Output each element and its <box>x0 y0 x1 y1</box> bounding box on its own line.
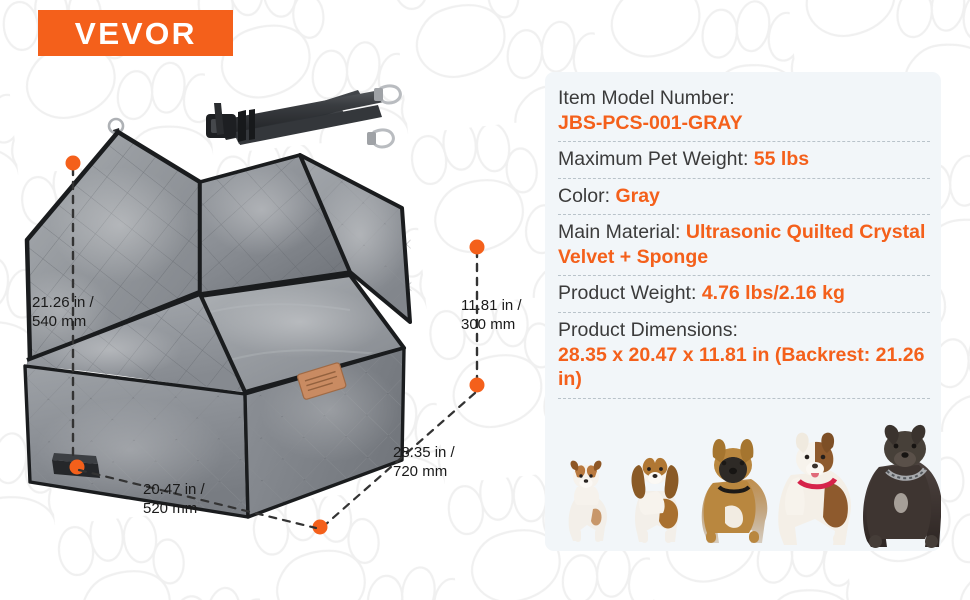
spec-value-product-dimensions: 28.35 x 20.47 x 11.81 in (Backrest: 21.2… <box>558 343 930 392</box>
dog-size-comparison <box>553 421 941 549</box>
spec-value-color: Gray <box>615 185 659 207</box>
vevor-logo: VEVOR <box>38 10 233 56</box>
vevor-logo-text: VEVOR <box>75 18 197 49</box>
dimension-label-backrest-height: 21.26 in / 540 mm <box>32 293 94 331</box>
spec-row-item-model-number: Item Model Number: JBS-PCS-001-GRAY <box>558 84 930 142</box>
spec-label-item-model-number: Item Model Number: <box>558 87 735 109</box>
spec-row-color: Color: Gray <box>558 179 930 216</box>
dim-depth-mm: 300 mm <box>461 316 515 333</box>
dim-dot-depth-top <box>470 240 485 255</box>
dim-width-inches: 20.47 in / <box>143 481 205 498</box>
dim-dot-height-top <box>66 156 81 171</box>
spec-value-item-model-number: JBS-PCS-001-GRAY <box>558 111 930 136</box>
spec-label-product-dimensions: Product Dimensions: <box>558 319 738 341</box>
strap-clip-top <box>374 86 400 103</box>
spec-row-product-dimensions: Product Dimensions: 28.35 x 20.47 x 11.8… <box>558 313 930 399</box>
spec-label-maximum-pet-weight: Maximum Pet Weight: <box>558 148 748 170</box>
dim-width-mm: 520 mm <box>143 500 197 517</box>
spec-row-product-weight: Product Weight: 4.76 lbs/2.16 kg <box>558 276 930 313</box>
dim-height-inches: 21.26 in / <box>32 294 94 311</box>
spec-label-color: Color: <box>558 185 610 207</box>
spec-row-main-material: Main Material: Ultrasonic Quilted Crysta… <box>558 215 930 276</box>
spec-label-main-material: Main Material: <box>558 221 680 243</box>
dim-dot-height-bottom <box>70 460 85 475</box>
spec-row-maximum-pet-weight: Maximum Pet Weight: 55 lbs <box>558 142 930 179</box>
specification-list: Item Model Number: JBS-PCS-001-GRAY Maxi… <box>558 84 930 399</box>
dimension-label-width: 20.47 in / 520 mm <box>143 480 205 518</box>
dog-pit-bull-terrier <box>778 433 851 545</box>
dim-depth-inches: 11.81 in / <box>461 297 522 314</box>
dim-length-mm: 720 mm <box>393 463 447 480</box>
dimension-label-seat-height: 11.81 in / 300 mm <box>461 296 522 334</box>
spec-value-product-weight: 4.76 lbs/2.16 kg <box>702 282 845 304</box>
spec-value-maximum-pet-weight: 55 lbs <box>754 148 809 170</box>
dim-height-mm: 540 mm <box>32 313 86 330</box>
infographic-root: VEVOR <box>0 0 970 600</box>
dimension-label-length: 28.35 in / 720 mm <box>393 443 455 481</box>
spec-label-product-weight: Product Weight: <box>558 282 696 304</box>
dog-french-bulldog <box>702 439 768 543</box>
dog-beagle <box>632 458 679 543</box>
dim-length-inches: 28.35 in / <box>393 444 455 461</box>
shoulder-strap-accessory <box>206 86 400 147</box>
strap-clip-bottom <box>367 130 393 147</box>
dog-jack-russell-terrier <box>569 461 607 542</box>
dog-large-mastiff <box>863 425 941 548</box>
dim-dot-depth-bottom <box>470 378 485 393</box>
